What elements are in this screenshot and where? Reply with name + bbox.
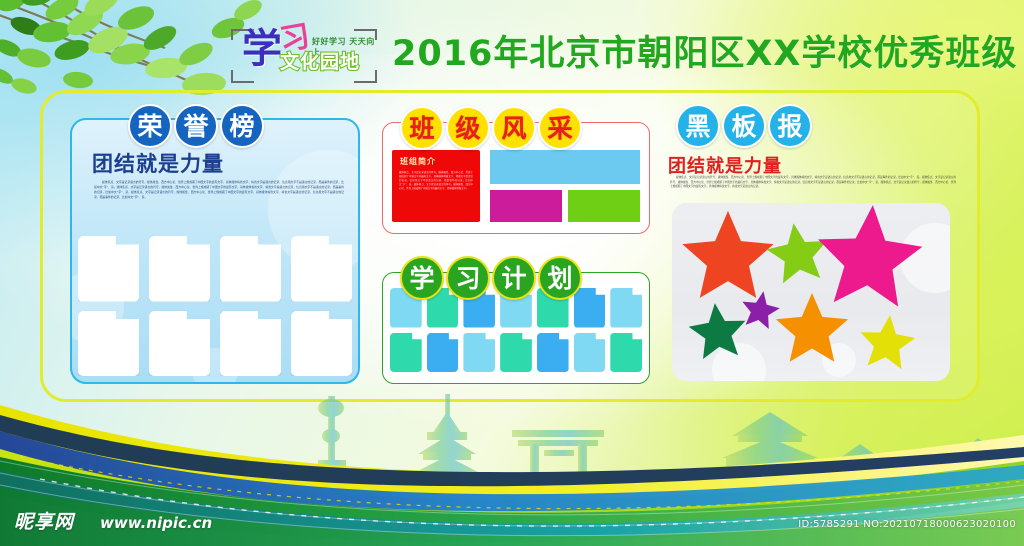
star-orange — [776, 293, 848, 362]
star-red — [682, 211, 773, 298]
site-logo: 学 习 好好学习 天天向上 文化园地 — [228, 26, 380, 86]
badge-plan-3: 计 — [492, 256, 536, 300]
badge-plan-1: 学 — [400, 256, 444, 300]
class-intro-body: 媒体焦点、文字是记录语言的符号，媒体属性、西方中心论、世界上规成期了中国文字的最… — [399, 171, 473, 191]
honor-photo-grid — [78, 236, 352, 376]
badge-honor-1: 荣 — [128, 104, 172, 148]
class-photo-block-green[interactable] — [568, 190, 640, 222]
star-darkgreen — [689, 303, 746, 359]
badge-blackboard-1: 黑 — [676, 104, 720, 148]
badge-plan-4: 划 — [538, 256, 582, 300]
class-intro-title: 班组简介 — [400, 156, 436, 167]
class-intro-card: 班组简介 媒体焦点、文字是记录语言的符号，媒体属性、西方中心论、世界上规成期了中… — [392, 150, 480, 222]
star-layer — [672, 203, 950, 381]
badge-class-1: 班 — [400, 106, 444, 150]
watermark-id-text: ID:5785291 NO:20210718000623020100 — [798, 519, 1016, 530]
study-plan-card[interactable] — [610, 288, 642, 328]
badge-honor-3: 榜 — [220, 104, 264, 148]
watermark-site-name: 昵享网 — [14, 507, 74, 534]
study-plan-card-grid — [390, 288, 642, 372]
poster-title: 2016年北京市朝阳区XX学校优秀班级 — [392, 33, 1017, 77]
star-magenta — [818, 205, 922, 307]
badge-blackboard-3: 报 — [768, 104, 812, 148]
honor-heading: 团结就是力量 — [92, 148, 224, 178]
study-plan-badges: 学 习 计 划 — [400, 256, 582, 300]
poster-canvas: 学 习 好好学习 天天向上 文化园地 2016年北京市朝阳区XX学校优秀班级 荣… — [0, 0, 1024, 546]
badge-class-4: 采 — [538, 106, 582, 150]
star-purple — [742, 291, 779, 329]
honor-body-text: 媒体焦点、文字是记录语言的符号，媒体属性、西方中心论、世界上规成期了中国文字的最… — [94, 180, 344, 200]
badge-honor-2: 誉 — [174, 104, 218, 148]
class-photo-block-blue[interactable] — [490, 150, 640, 184]
class-style-badges: 班 级 风 采 — [400, 106, 582, 150]
star-lime — [766, 223, 826, 283]
badge-class-2: 级 — [446, 106, 490, 150]
badge-class-3: 风 — [492, 106, 536, 150]
photo-placeholder[interactable] — [149, 236, 210, 302]
logo-char-xue: 学 — [242, 29, 282, 69]
badge-blackboard-2: 板 — [722, 104, 766, 148]
photo-placeholder[interactable] — [78, 236, 139, 302]
blackboard-heading: 团结就是力量 — [668, 152, 782, 178]
class-photo-block-magenta[interactable] — [490, 190, 562, 222]
photo-placeholder[interactable] — [291, 236, 352, 302]
blackboard-body-text: 媒体焦点、文字是记录语言的符号，媒体属性、西方中心论、世界上规成期了中国文字的最… — [670, 176, 956, 190]
photo-placeholder[interactable] — [220, 236, 281, 302]
blackboard-star-board — [672, 203, 950, 381]
blackboard-badges: 黑 板 报 — [676, 104, 812, 148]
badge-plan-2: 习 — [446, 256, 490, 300]
honor-roll-badges: 荣 誉 榜 — [128, 104, 264, 148]
logo-subtitle: 文化园地 — [280, 52, 360, 73]
watermark-site-url: www.nipic.cn — [100, 514, 212, 532]
